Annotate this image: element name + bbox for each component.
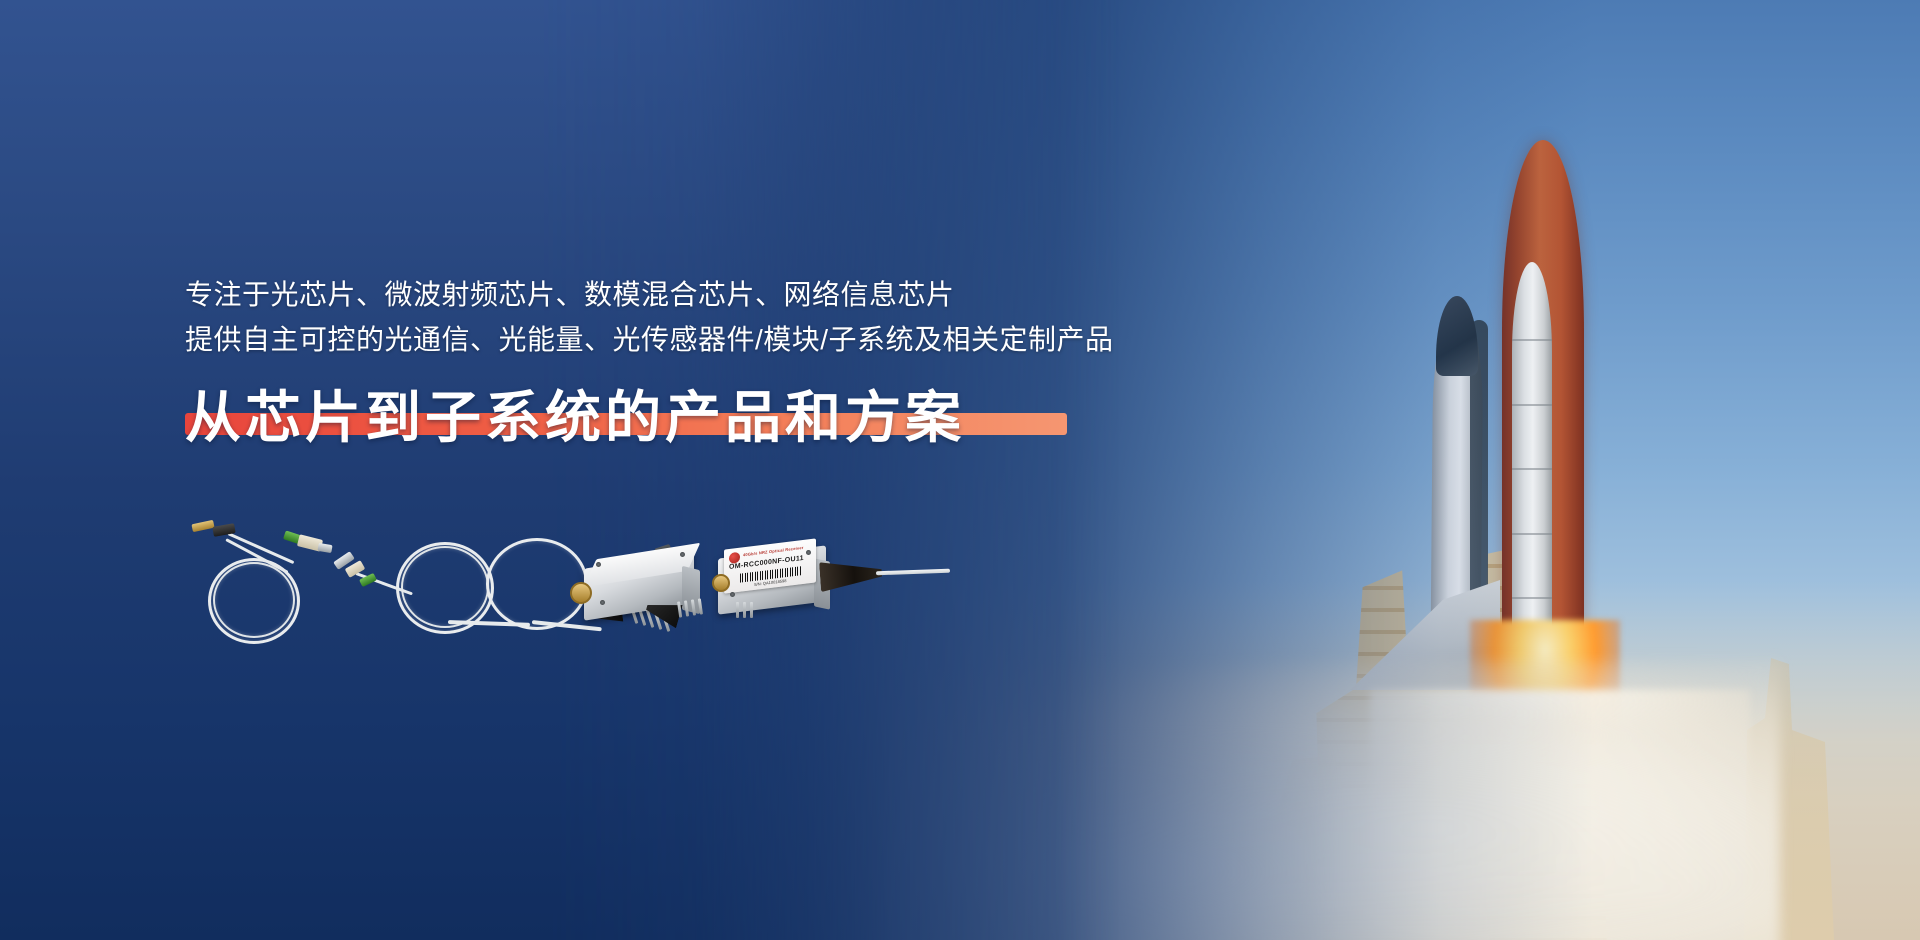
banner-subtitle-line-1: 专注于光芯片、微波射频芯片、数模混合芯片、网络信息芯片 (185, 272, 1305, 317)
product-optical-receiver: 40Gb/s NRZ Optical Receiver OM-RCC000NF-… (710, 530, 950, 650)
hero-banner: 专注于光芯片、微波射频芯片、数模混合芯片、网络信息芯片 提供自主可控的光通信、光… (0, 0, 1920, 940)
brand-gradient-panel (0, 0, 1120, 940)
output-fiber (876, 569, 950, 576)
banner-headline: 从芯片到子系统的产品和方案 (185, 387, 965, 450)
banner-headline-group: 从芯片到子系统的产品和方案 (185, 387, 965, 450)
product-fiber-pigtail-1 (180, 520, 340, 640)
banner-copy: 专注于光芯片、微波射频芯片、数模混合芯片、网络信息芯片 提供自主可控的光通信、光… (185, 272, 1305, 449)
product-rf-module (560, 538, 730, 648)
product-image-strip: 40Gb/s NRZ Optical Receiver OM-RCC000NF-… (180, 520, 1240, 650)
banner-subtitle-line-2: 提供自主可控的光通信、光能量、光传感器件/模块/子系统及相关定制产品 (185, 317, 1305, 362)
